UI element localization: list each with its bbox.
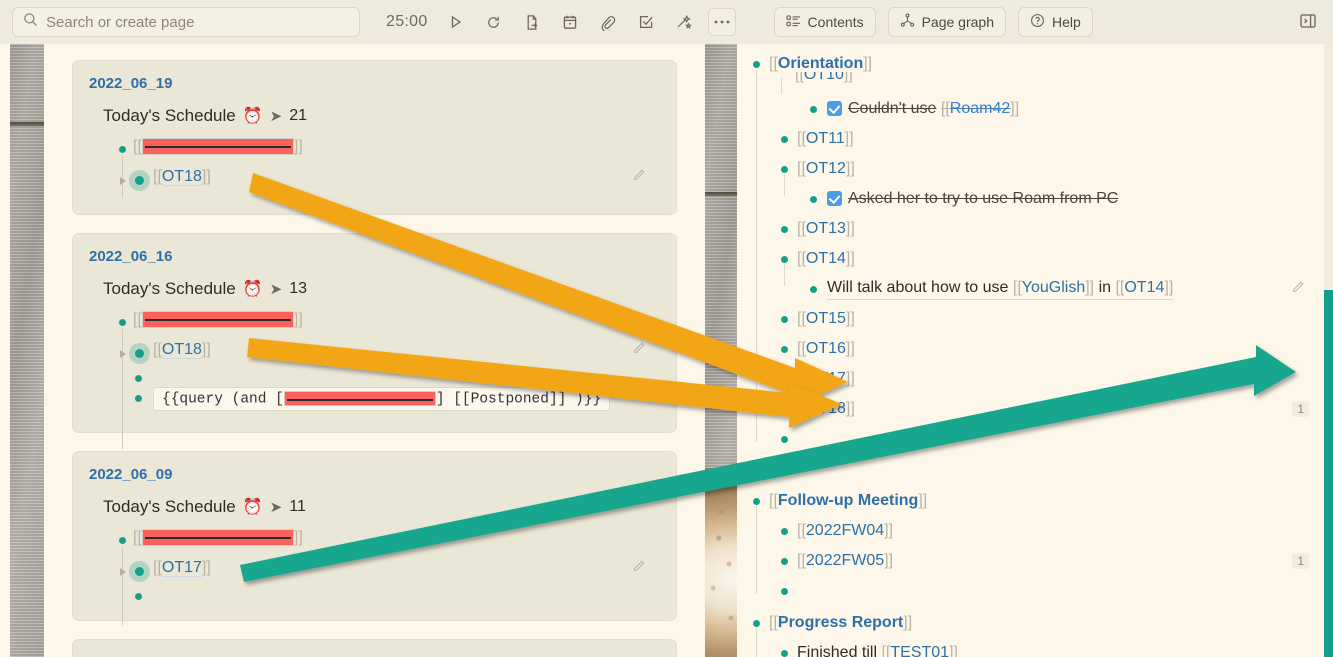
search-icon xyxy=(23,12,38,32)
daily-log-column[interactable]: 2022_06_19 Today's Schedule ⏰ ➤ 21 [[]] … xyxy=(44,44,705,657)
card-title-text: Today's Schedule xyxy=(103,279,236,299)
linked-ref-count: 1 xyxy=(1292,401,1309,417)
wood-texture-left xyxy=(10,44,44,657)
outline-item-asked-her[interactable]: Asked her to try to use Roam from PC xyxy=(737,184,1333,214)
edit-pencil-icon[interactable] xyxy=(632,559,646,578)
ref-close-bracket: ]] xyxy=(918,492,927,509)
outline-label[interactable]: Asked her to try to use Roam from PC xyxy=(848,190,1118,207)
outline-label[interactable]: Follow-up Meeting xyxy=(778,492,918,509)
query-prefix: {{query (and [ xyxy=(162,391,284,407)
play-icon[interactable] xyxy=(442,8,470,36)
redaction-bar xyxy=(142,138,294,155)
ref-open-bracket: [[ xyxy=(153,559,162,576)
block-row-reference[interactable]: [[OT18]] xyxy=(89,168,660,186)
graph-icon xyxy=(900,13,915,31)
block-bullet-collapsed[interactable] xyxy=(135,176,144,185)
outline-item-ot11[interactable]: [[OT11]] xyxy=(737,124,1333,154)
outline-label[interactable]: Orientation xyxy=(778,55,863,72)
outline-label[interactable]: Will talk about how to use xyxy=(827,279,1008,296)
outline-item-2022fw04[interactable]: [[2022FW04]] xyxy=(737,516,1333,546)
card-date[interactable]: 2022_06_19 xyxy=(89,75,660,92)
ref-open-bracket: [[ xyxy=(797,340,806,357)
ref-open-bracket: [[ xyxy=(795,72,804,83)
outline-label[interactable]: OT16 xyxy=(806,340,846,357)
block-row-redacted[interactable]: [[]] xyxy=(89,529,660,547)
ref-close-bracket: ]] xyxy=(949,644,958,657)
redaction-bar xyxy=(142,311,294,328)
block-row-empty[interactable] xyxy=(89,585,660,599)
right-sidebar-toggle-icon[interactable] xyxy=(1295,8,1321,34)
block-bullet[interactable] xyxy=(135,395,142,402)
block-bullet[interactable] xyxy=(781,136,788,143)
block-row-redacted[interactable]: [[]] xyxy=(89,311,660,329)
edit-pencil-icon[interactable] xyxy=(632,341,646,360)
block-bullet[interactable] xyxy=(781,406,788,413)
ref-open-bracket: [[ xyxy=(797,400,806,417)
outline-label[interactable]: Finished till xyxy=(797,644,877,657)
collapse-caret-icon[interactable] xyxy=(120,350,126,358)
outline-ref-ot14[interactable]: OT14 xyxy=(1124,279,1164,296)
page-graph-button-label: Page graph xyxy=(922,14,994,30)
outline-label[interactable]: OT18 xyxy=(806,400,846,417)
ref-open-bracket: [[ xyxy=(797,552,806,569)
card-date[interactable]: 2022_06_09 xyxy=(89,466,660,483)
ref-close-bracket: ]] xyxy=(202,341,211,358)
ref-close-bracket: ]] xyxy=(845,130,854,147)
outline-label[interactable]: OT12 xyxy=(806,160,846,177)
outline-item-empty[interactable] xyxy=(737,454,1333,484)
ref-open-bracket: [[ xyxy=(941,100,950,117)
ref-close-bracket: ]] xyxy=(202,559,211,576)
ref-open-bracket: [[ xyxy=(133,529,142,546)
page-reference-link[interactable]: OT18 xyxy=(162,341,202,359)
ref-open-bracket: [[ xyxy=(797,310,806,327)
ref-close-bracket: ]] xyxy=(1085,279,1094,296)
ref-close-bracket: ]] xyxy=(903,614,912,631)
outline-label[interactable]: 2022FW05 xyxy=(806,552,884,569)
outline-label[interactable]: Progress Report xyxy=(778,614,903,631)
block-row-reference[interactable]: [[OT17]] xyxy=(89,559,660,577)
arrow-glyph-icon: ➤ xyxy=(270,280,283,298)
card-title-row: Today's Schedule ⏰ ➤ 13 xyxy=(103,279,660,299)
block-row-redacted[interactable]: [[]] xyxy=(89,138,660,156)
more-options-icon[interactable] xyxy=(708,8,736,36)
daily-note-card-partial[interactable] xyxy=(72,639,677,657)
ref-close-bracket: ]] xyxy=(846,310,855,327)
ref-close-bracket: ]] xyxy=(863,55,872,72)
alarm-clock-icon: ⏰ xyxy=(243,279,263,299)
block-bullet[interactable] xyxy=(781,588,788,595)
page-reference-link[interactable]: OT17 xyxy=(162,559,202,577)
outline-label[interactable]: 2022FW04 xyxy=(806,522,884,539)
block-bullet[interactable] xyxy=(810,106,817,113)
ref-close-bracket: ]] xyxy=(202,168,211,185)
block-bullet[interactable] xyxy=(753,620,760,627)
outline-label[interactable]: OT10 xyxy=(804,72,844,83)
pomodoro-timer[interactable]: 25:00 xyxy=(386,13,428,31)
block-bullet[interactable] xyxy=(781,226,788,233)
card-title-row: Today's Schedule ⏰ ➤ 11 xyxy=(103,497,660,517)
contents-button-label: Contents xyxy=(808,14,864,30)
ref-open-bracket: [[ xyxy=(1013,279,1022,296)
outline-item-ot16[interactable]: [[OT16]] xyxy=(737,334,1333,364)
outline-item-ot17[interactable]: [[OT17]] xyxy=(737,364,1333,394)
block-bullet[interactable] xyxy=(781,166,788,173)
query-suffix: ] [[Postponed]] )}} xyxy=(436,391,601,407)
block-row-query[interactable]: {{query (and [] [[Postponed]] )}} xyxy=(89,387,660,411)
outline-item-finished-till[interactable]: Finished till [[TEST01]] xyxy=(737,638,1333,657)
block-bullet[interactable] xyxy=(753,61,760,68)
outline-item-followup-meeting[interactable]: [[Follow-up Meeting]] xyxy=(737,486,1333,516)
ref-open-bracket: [[ xyxy=(153,168,162,185)
checkbox-checked-icon[interactable] xyxy=(827,101,842,116)
ref-open-bracket: [[ xyxy=(133,138,142,155)
outline-label[interactable]: OT14 xyxy=(806,250,846,267)
ref-open-bracket: [[ xyxy=(769,614,778,631)
attachment-icon[interactable] xyxy=(594,8,622,36)
collapse-caret-icon[interactable] xyxy=(120,177,126,185)
outline-label[interactable]: OT11 xyxy=(806,130,845,147)
outline-item-youglish-note[interactable]: Will talk about how to use [[YouGlish]] … xyxy=(737,274,1333,304)
block-bullet[interactable] xyxy=(135,593,142,600)
todo-check-icon[interactable] xyxy=(632,8,660,36)
ref-close-bracket: ]] xyxy=(294,311,303,328)
block-bullet[interactable] xyxy=(135,375,142,382)
ref-close-bracket: ]] xyxy=(294,138,303,155)
outline-item-ot10-cut[interactable]: [[OT10]] xyxy=(737,72,1333,94)
ref-open-bracket: [[ xyxy=(797,220,806,237)
ref-close-bracket: ]] xyxy=(846,250,855,267)
ref-open-bracket: [[ xyxy=(769,492,778,509)
block-bullet[interactable] xyxy=(781,316,788,323)
help-icon xyxy=(1030,13,1045,31)
outline-ref-test01[interactable]: TEST01 xyxy=(890,644,949,657)
block-row-empty[interactable] xyxy=(89,367,660,381)
magic-wand-icon[interactable] xyxy=(670,8,698,36)
outline-item-progress-report[interactable]: [[Progress Report]] xyxy=(737,608,1333,638)
reset-icon[interactable] xyxy=(480,8,508,36)
card-count: 13 xyxy=(289,280,307,298)
outline-label[interactable]: OT15 xyxy=(806,310,846,327)
card-count: 21 xyxy=(289,107,307,125)
card-title-text: Today's Schedule xyxy=(103,497,236,517)
arrow-glyph-icon: ➤ xyxy=(270,107,283,125)
outline-item-ot12[interactable]: [[OT12]] xyxy=(737,154,1333,184)
ref-close-bracket: ]] xyxy=(1010,100,1019,117)
checkbox-checked-icon[interactable] xyxy=(827,191,842,206)
outline-item-ot13[interactable]: [[OT13]] xyxy=(737,214,1333,244)
ref-open-bracket: [[ xyxy=(797,160,806,177)
block-bullet-collapsed[interactable] xyxy=(135,349,144,358)
coffee-cup-photo xyxy=(705,468,737,657)
outline-item-2022fw05[interactable]: [[2022FW05]] 1 xyxy=(737,546,1333,576)
outline-item-ot14[interactable]: [[OT14]] xyxy=(737,244,1333,274)
block-bullet[interactable] xyxy=(119,537,126,544)
ref-open-bracket: [[ xyxy=(797,130,806,147)
block-bullet[interactable] xyxy=(119,319,126,326)
ref-close-bracket: ]] xyxy=(846,400,855,417)
page-outline-column[interactable]: [[Orientation]] [[OT10]] Couldn't use [[… xyxy=(737,44,1333,657)
redaction-bar xyxy=(284,391,436,406)
ref-open-bracket: [[ xyxy=(153,341,162,358)
ref-close-bracket: ]] xyxy=(846,370,855,387)
ref-close-bracket: ]] xyxy=(846,220,855,237)
ref-close-bracket: ]] xyxy=(884,552,893,569)
card-count: 11 xyxy=(289,498,306,516)
block-bullet[interactable] xyxy=(781,256,788,263)
block-bullet[interactable] xyxy=(781,466,788,473)
linked-ref-count: 1 xyxy=(1292,553,1309,569)
search-placeholder: Search or create page xyxy=(46,14,194,31)
help-button[interactable]: Help xyxy=(1018,7,1093,37)
outline-ref-youglish[interactable]: YouGlish xyxy=(1022,279,1085,296)
export-page-icon[interactable] xyxy=(518,8,546,36)
outline-ref-roam42[interactable]: Roam42 xyxy=(950,100,1010,117)
block-bullet-collapsed[interactable] xyxy=(135,567,144,576)
card-date[interactable]: 2022_06_16 xyxy=(89,248,660,265)
page-reference-link[interactable]: OT18 xyxy=(162,168,202,186)
outline-item-ot15[interactable]: [[OT15]] xyxy=(737,304,1333,334)
outline-item-ot18[interactable]: [[OT18]] 1 xyxy=(737,394,1333,424)
block-bullet[interactable] xyxy=(781,376,788,383)
help-button-label: Help xyxy=(1052,14,1081,30)
alarm-clock-icon: ⏰ xyxy=(243,106,263,126)
outline-label[interactable]: OT17 xyxy=(806,370,846,387)
daily-note-card[interactable]: 2022_06_19 Today's Schedule ⏰ ➤ 21 [[]] … xyxy=(72,60,677,215)
edit-pencil-icon[interactable] xyxy=(1291,280,1305,299)
block-bullet[interactable] xyxy=(781,346,788,353)
outline-item-couldnt-use[interactable]: Couldn't use [[Roam42]] xyxy=(737,94,1333,124)
query-block[interactable]: {{query (and [] [[Postponed]] )}} xyxy=(153,387,610,411)
block-bullet[interactable] xyxy=(781,528,788,535)
block-bullet[interactable] xyxy=(781,558,788,565)
toolbar-button-group: Contents Page graph Help xyxy=(774,7,1093,37)
ref-close-bracket: ]] xyxy=(844,72,853,83)
redaction-bar xyxy=(142,529,294,546)
daily-note-card[interactable]: 2022_06_09 Today's Schedule ⏰ ➤ 11 [[]] … xyxy=(72,451,677,621)
block-bullet[interactable] xyxy=(781,650,788,657)
ref-close-bracket: ]] xyxy=(1164,279,1173,296)
right-scrollbar-thumb[interactable] xyxy=(1324,290,1333,657)
edit-pencil-icon[interactable] xyxy=(632,168,646,187)
block-row-reference[interactable]: [[OT18]] xyxy=(89,341,660,359)
ref-open-bracket: [[ xyxy=(797,250,806,267)
ref-close-bracket: ]] xyxy=(846,160,855,177)
outline-label[interactable]: OT13 xyxy=(806,220,846,237)
toolbar-icon-group xyxy=(442,8,736,36)
ref-close-bracket: ]] xyxy=(884,522,893,539)
collapse-caret-icon[interactable] xyxy=(120,568,126,576)
card-title-row: Today's Schedule ⏰ ➤ 21 xyxy=(103,106,660,126)
block-guide-line xyxy=(781,78,782,94)
daily-note-card[interactable]: 2022_06_16 Today's Schedule ⏰ ➤ 13 [[]] … xyxy=(72,233,677,433)
ref-close-bracket: ]] xyxy=(294,529,303,546)
ref-open-bracket: [[ xyxy=(797,522,806,539)
scrollbar-track xyxy=(1324,44,1333,290)
block-bullet[interactable] xyxy=(810,196,817,203)
block-bullet[interactable] xyxy=(810,286,817,293)
contents-button[interactable]: Contents xyxy=(774,7,876,37)
arrow-glyph-icon: ➤ xyxy=(270,498,283,516)
ref-open-bracket: [[ xyxy=(769,55,778,72)
alarm-clock-icon: ⏰ xyxy=(243,497,263,517)
block-bullet[interactable] xyxy=(781,436,788,443)
ref-close-bracket: ]] xyxy=(846,340,855,357)
block-bullet[interactable] xyxy=(119,146,126,153)
ref-open-bracket: [[ xyxy=(797,370,806,387)
outline-label[interactable]: Couldn't use xyxy=(848,100,936,117)
search-input[interactable]: Search or create page xyxy=(12,7,360,37)
outline-item-empty[interactable] xyxy=(737,424,1333,454)
outline-mid-word: in xyxy=(1099,279,1111,296)
outline-item-empty[interactable] xyxy=(737,576,1333,606)
page-graph-button[interactable]: Page graph xyxy=(888,7,1006,37)
contents-icon xyxy=(786,14,801,31)
calendar-icon[interactable] xyxy=(556,8,584,36)
block-bullet[interactable] xyxy=(753,498,760,505)
ref-open-bracket: [[ xyxy=(133,311,142,328)
card-title-text: Today's Schedule xyxy=(103,106,236,126)
top-toolbar: Search or create page 25:00 xyxy=(0,0,1333,44)
